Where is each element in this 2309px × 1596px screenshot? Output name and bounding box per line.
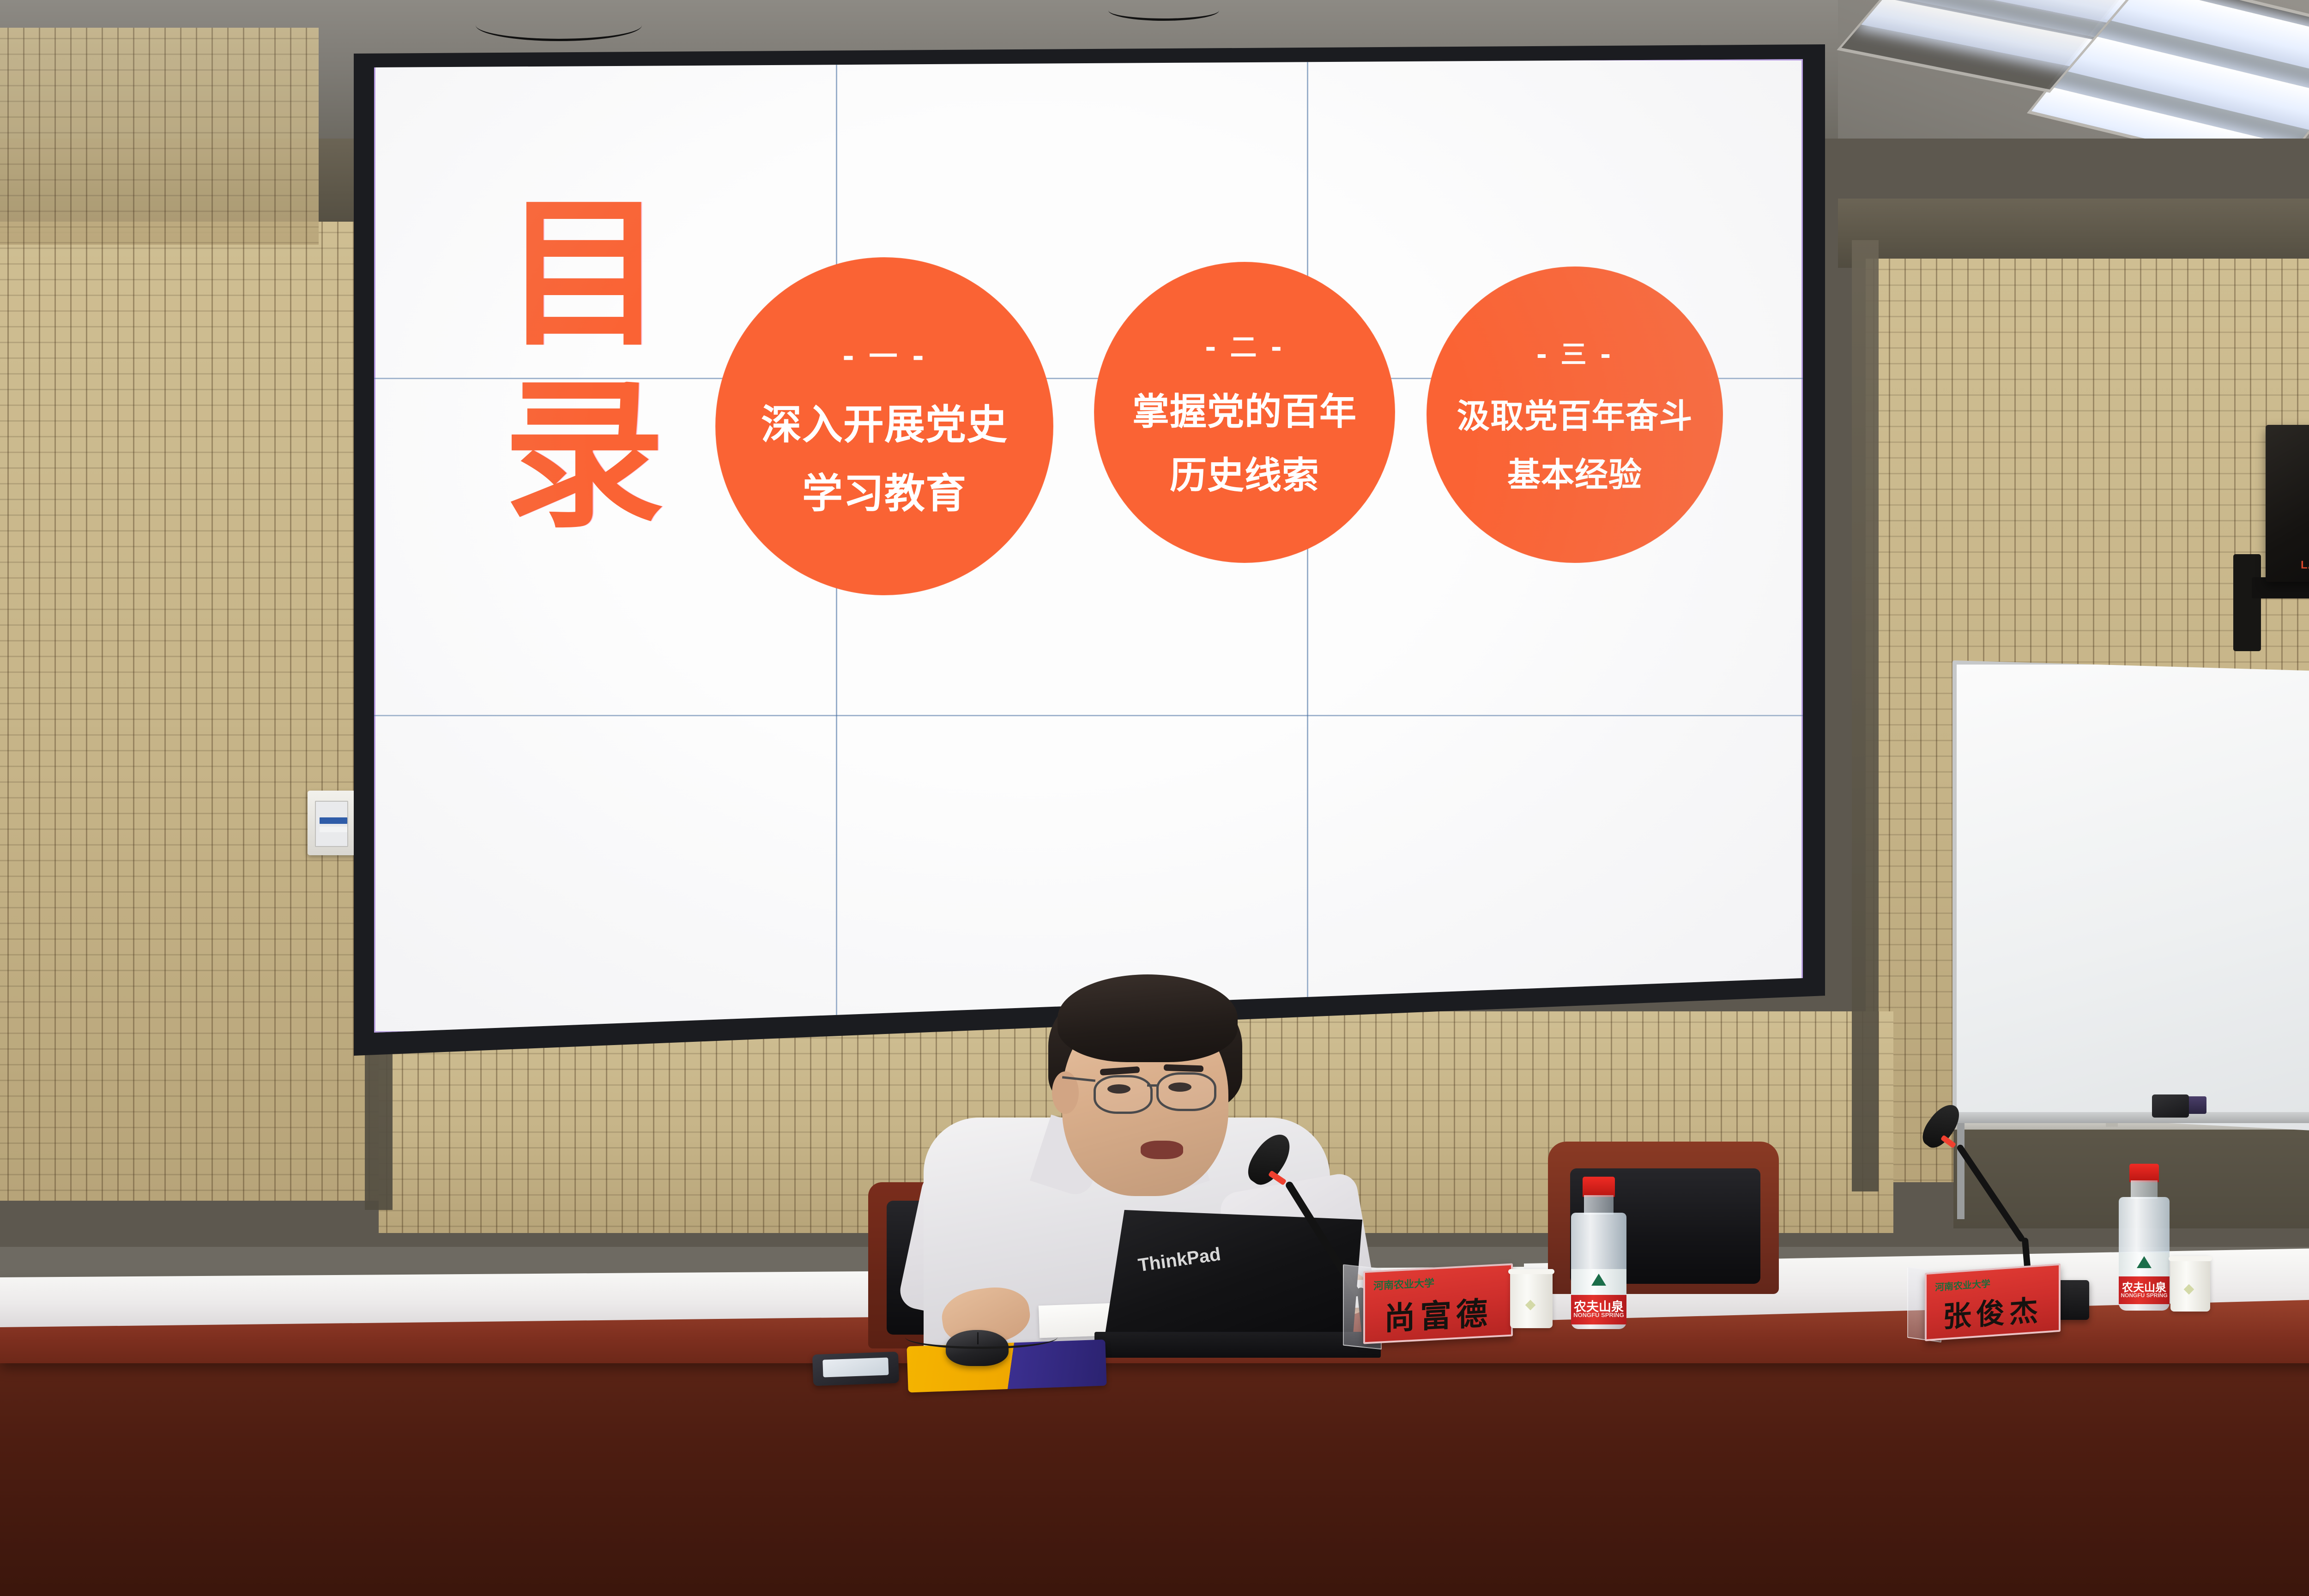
speaker-brow-right	[1164, 1064, 1203, 1072]
water-bottle-left[interactable]: 农夫山泉 NONGFU SPRING	[1571, 1177, 1626, 1329]
paper-cup-right-rim	[2169, 1256, 2212, 1261]
head-table-front-panel	[0, 1339, 2309, 1596]
projection-screen[interactable]: 目 录 - 一 - 深入开展党史 学习教育 - 二 - 掌握党的百年 历史线索 …	[374, 59, 1803, 1033]
paper-cup-right-pattern	[2184, 1284, 2194, 1295]
bottle-right-cap	[2129, 1164, 2159, 1182]
slide-title-char-2: 录	[503, 379, 666, 533]
bottle-logo-mountain-icon	[1591, 1274, 1606, 1286]
slide-bubble-1[interactable]: - 一 - 深入开展党史 学习教育	[716, 258, 1053, 595]
bottle-neck	[1584, 1195, 1614, 1215]
smartphone[interactable]	[812, 1352, 899, 1386]
bottle-right-brand-en: NONGFU SPRING	[2119, 1292, 2170, 1299]
slide-bubble-2-line1: 掌握党的百年	[1132, 382, 1357, 435]
nameplate-1-org: 河南农业大学	[1373, 1275, 1434, 1293]
nameplate-1: 河南农业大学 尚富德	[1363, 1263, 1513, 1344]
slide-bubble-1-line1: 深入开展党史	[761, 392, 1008, 451]
nameplate-2-name: 张俊杰	[1943, 1287, 2043, 1335]
water-bottle-right[interactable]: 农夫山泉 NONGFU SPRING	[2119, 1164, 2170, 1312]
laptop-brand-logo: ThinkPad	[1137, 1244, 1222, 1276]
wall-acoustic-panel-center-left	[0, 28, 319, 245]
slide-bubble-1-line2: 学习教育	[802, 461, 967, 520]
smartphone-screen	[822, 1358, 889, 1378]
nameplate-2: 河南农业大学 张俊杰	[1925, 1263, 2061, 1342]
wall-divider-strip-right	[1852, 240, 1879, 1191]
bottle-right-logo-mountain-icon	[2137, 1256, 2152, 1268]
bottle-brand-en: NONGFU SPRING	[1571, 1312, 1626, 1318]
speaker-wall-bracket	[2233, 554, 2261, 651]
bottle-right-neck	[2131, 1180, 2158, 1199]
slide-title: 目 录	[503, 198, 666, 532]
electrical-breaker-box[interactable]	[308, 791, 356, 855]
paper-cup-right[interactable]	[2170, 1256, 2210, 1312]
slide-bubble-3-line1: 汲取党百年奋斗	[1457, 389, 1692, 437]
desk-mini-speaker	[2152, 1094, 2189, 1118]
slide-title-char-1: 目	[503, 198, 666, 351]
laptop-brand-text: ThinkPad	[1137, 1244, 1222, 1276]
eyeglasses-lens-right	[1156, 1072, 1216, 1111]
speaker-hair-top	[1058, 974, 1238, 1062]
wall-acoustic-panel-left	[0, 222, 383, 1201]
slide-bubble-3[interactable]: - 三 - 汲取党百年奋斗 基本经验	[1427, 267, 1723, 562]
mouse-cable	[905, 1325, 1058, 1349]
nameplate-1-name: 尚富德	[1384, 1287, 1492, 1338]
paper-cup-rim	[1508, 1269, 1554, 1274]
slide-bubble-2-number: - 二 -	[1205, 326, 1284, 364]
slide-bubble-2-line2: 历史线索	[1170, 446, 1319, 499]
slide-bubble-3-number: - 三 -	[1536, 334, 1613, 371]
eyeglasses-bridge	[1147, 1084, 1158, 1087]
ceiling-cable-2	[1108, 0, 1219, 21]
wall-speaker: LAX	[2266, 425, 2309, 582]
eyeglasses-lens-left	[1094, 1075, 1153, 1114]
speaker-brand-label: LAX	[2301, 559, 2309, 572]
ceiling-cable	[476, 9, 642, 41]
slide-bubble-3-line2: 基本经验	[1507, 447, 1642, 496]
scene-root: 目 录 - 一 - 深入开展党史 学习教育 - 二 - 掌握党的百年 历史线索 …	[0, 0, 2309, 1596]
whiteboard[interactable]	[1952, 660, 2309, 1135]
screen-seam-horizontal-2	[374, 715, 1803, 716]
wall-panel-upper-dark-right	[1838, 199, 2309, 268]
paper-cup-left[interactable]	[1510, 1269, 1553, 1328]
microphone-right-gooseneck	[1956, 1143, 2025, 1243]
bottle-cap	[1583, 1177, 1615, 1197]
slide-bubble-1-number: - 一 -	[842, 333, 926, 375]
speaker-mouth	[1141, 1141, 1183, 1159]
slide-bubble-2[interactable]: - 二 - 掌握党的百年 历史线索	[1094, 262, 1395, 562]
paper-cup-pattern	[1525, 1300, 1536, 1311]
